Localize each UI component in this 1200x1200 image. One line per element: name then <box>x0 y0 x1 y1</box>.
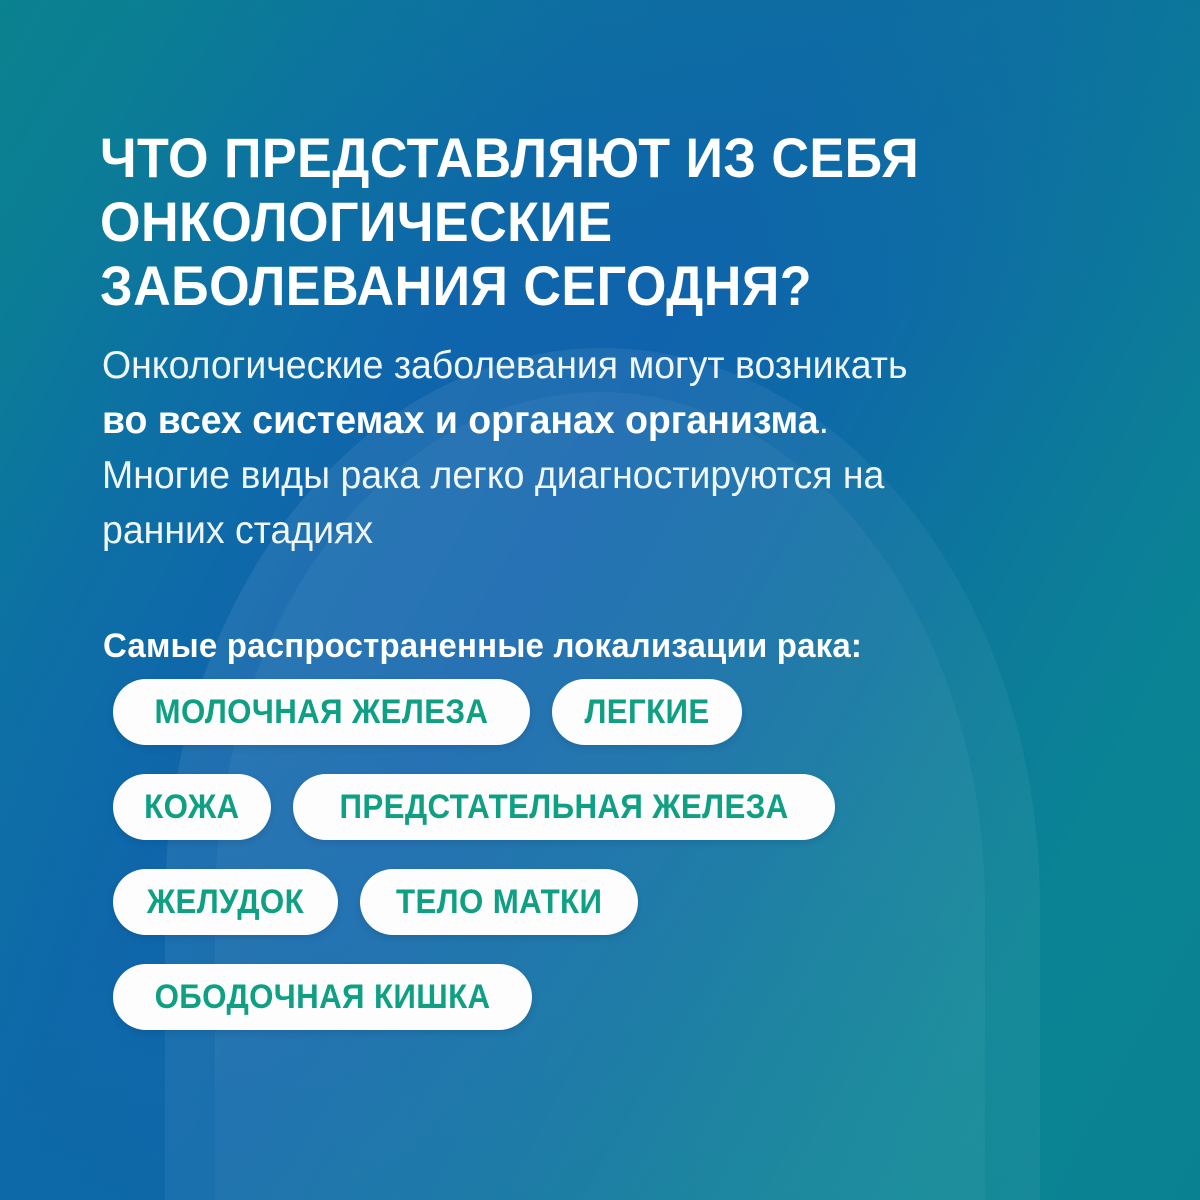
pill-label: ОБОДОЧНАЯ КИШКА <box>155 980 491 1014</box>
pill-row: ОБОДОЧНАЯ КИШКА <box>113 964 1113 1030</box>
pill-item: ТЕЛО МАТКИ <box>360 869 638 935</box>
pill-label: ТЕЛО МАТКИ <box>396 885 602 919</box>
intro-line-2-bold: во всех системах и органах организма <box>102 399 819 442</box>
cancer-localization-pill-list: МОЛОЧНАЯ ЖЕЛЕЗА ЛЕГКИЕ КОЖА ПРЕДСТАТЕЛЬН… <box>113 679 1113 1059</box>
intro-line-2-tail: . <box>819 399 829 442</box>
section-subheading: Самые распространенные локализации рака: <box>103 626 862 666</box>
pill-label: ПРЕДСТАТЕЛЬНАЯ ЖЕЛЕЗА <box>339 790 788 824</box>
pill-item: МОЛОЧНАЯ ЖЕЛЕЗА <box>113 679 530 745</box>
page-title: ЧТО ПРЕДСТАВЛЯЮТ ИЗ СЕБЯ ОНКОЛОГИЧЕСКИЕ … <box>100 126 1039 318</box>
pill-item: ПРЕДСТАТЕЛЬНАЯ ЖЕЛЕЗА <box>293 774 835 840</box>
pill-item: ОБОДОЧНАЯ КИШКА <box>113 964 532 1030</box>
pill-row: КОЖА ПРЕДСТАТЕЛЬНАЯ ЖЕЛЕЗА <box>113 774 1113 840</box>
pill-item: ЛЕГКИЕ <box>552 679 742 745</box>
pill-label: МОЛОЧНАЯ ЖЕЛЕЗА <box>155 695 489 729</box>
pill-item: КОЖА <box>113 774 271 840</box>
poster-canvas: ЧТО ПРЕДСТАВЛЯЮТ ИЗ СЕБЯ ОНКОЛОГИЧЕСКИЕ … <box>0 0 1200 1200</box>
intro-paragraph: Онкологические заболевания могут возника… <box>102 338 1081 558</box>
pill-item: ЖЕЛУДОК <box>113 869 338 935</box>
pill-row: МОЛОЧНАЯ ЖЕЛЕЗА ЛЕГКИЕ <box>113 679 1113 745</box>
pill-label: ЛЕГКИЕ <box>584 695 709 729</box>
pill-label: КОЖА <box>144 790 239 824</box>
intro-line-3: Многие виды рака легко диагностируются н… <box>102 448 1081 503</box>
pill-label: ЖЕЛУДОК <box>147 885 304 919</box>
intro-line-4: ранних стадиях <box>102 503 1081 558</box>
pill-row: ЖЕЛУДОК ТЕЛО МАТКИ <box>113 869 1113 935</box>
intro-line-1: Онкологические заболевания могут возника… <box>102 338 1081 393</box>
intro-line-2: во всех системах и органах организма. <box>102 393 1081 448</box>
